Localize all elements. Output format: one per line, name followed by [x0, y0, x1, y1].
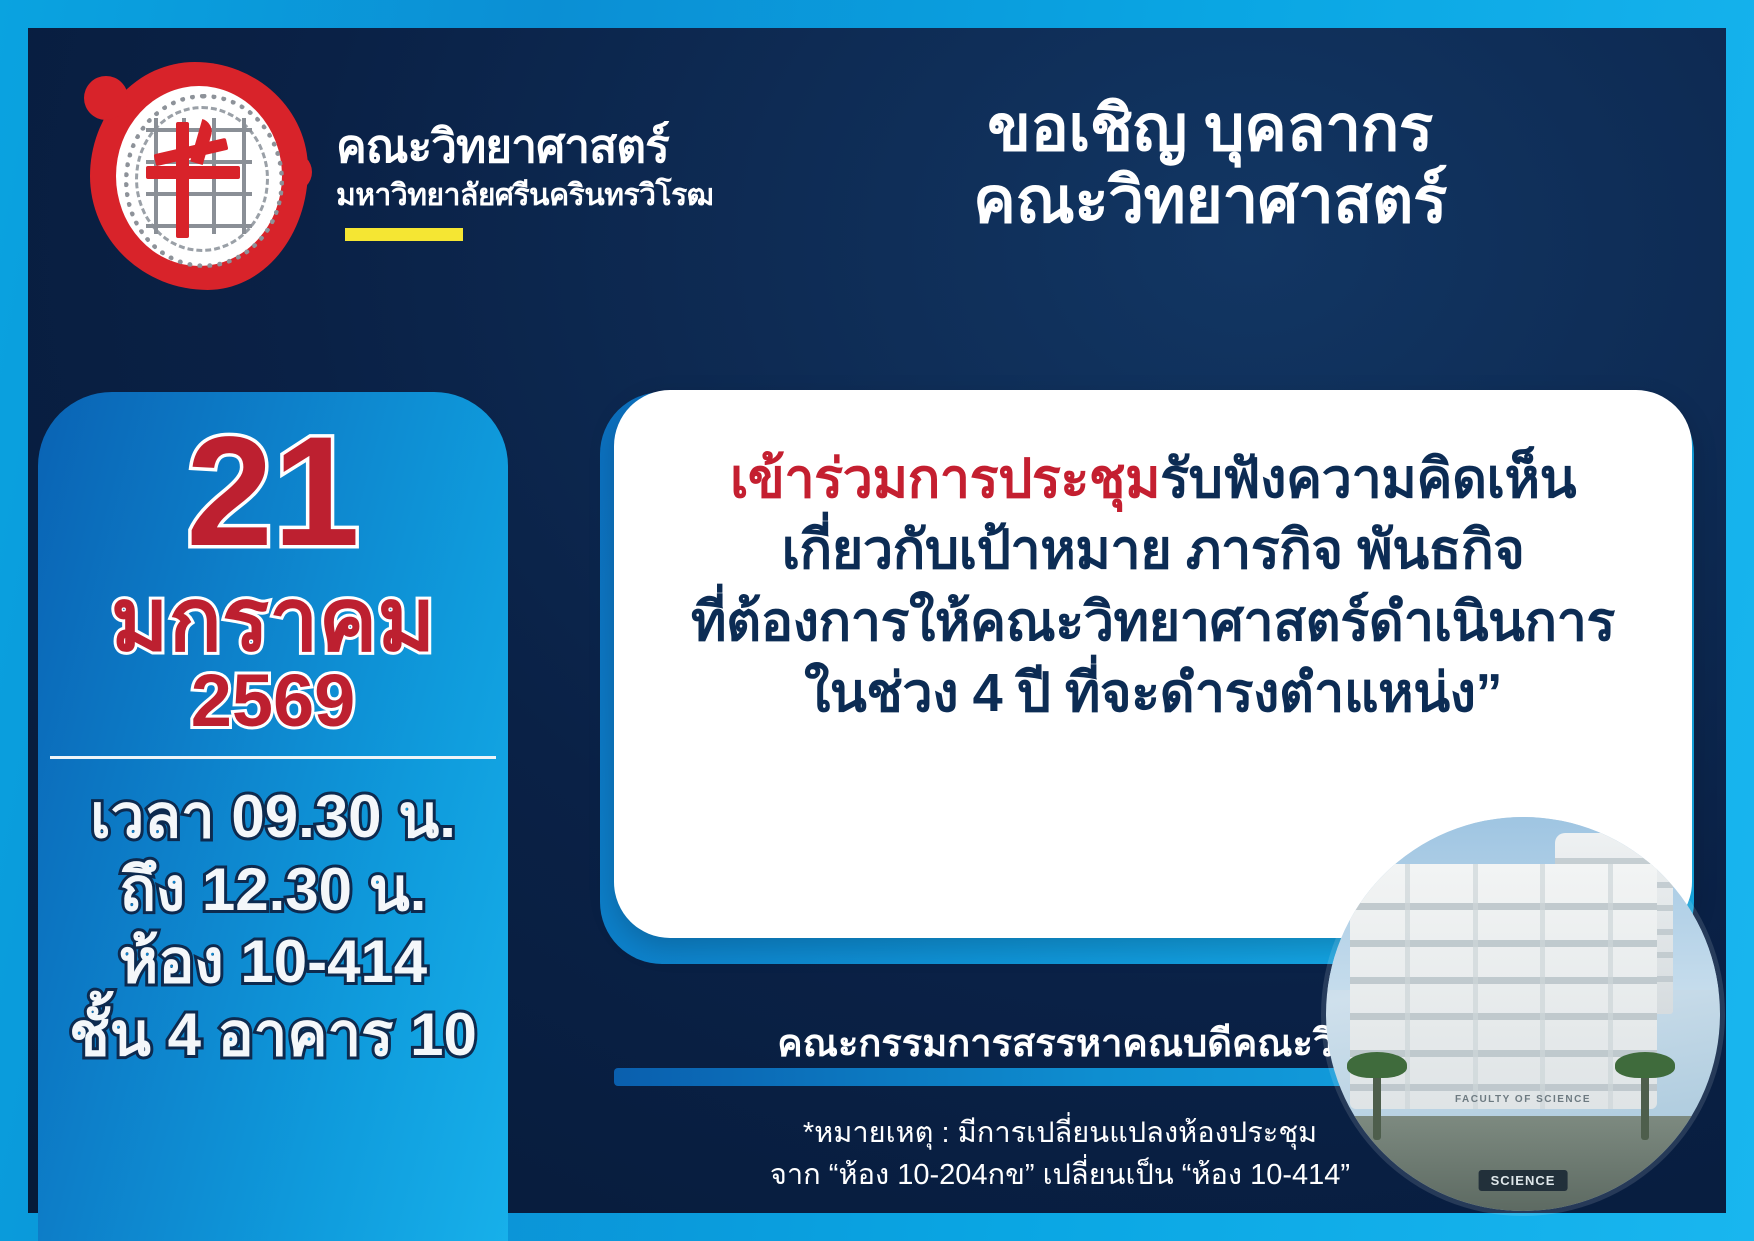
university-name: มหาวิทยาลัยศรีนครินทรวิโรฒ: [336, 172, 713, 219]
swu-seal-icon: [90, 62, 310, 292]
event-room: ห้อง 10-414: [38, 926, 508, 999]
announcement-line-1-rest: รับฟังความคิดเห็น: [1160, 449, 1576, 509]
event-time-end: ถึง 12.30 น.: [38, 854, 508, 927]
poster-root: คณะวิทยาศาสตร์ มหาวิทยาลัยศรีนครินทรวิโร…: [0, 0, 1754, 1241]
building-photo: FACULTY OF SCIENCE SCIENCE: [1326, 817, 1720, 1211]
event-floor-building: ชั้น 4 อาคาร 10: [38, 999, 508, 1072]
invite-line-2: คณะวิทยาศาสตร์: [820, 164, 1600, 236]
event-month: มกราคม: [38, 574, 508, 666]
date-panel: 21 มกราคม 2569 เวลา 09.30 น. ถึง 12.30 น…: [38, 392, 508, 1241]
announcement-body: เข้าร่วมการประชุมรับฟังความคิดเห็น เกี่ย…: [614, 444, 1692, 729]
announcement-line-4: ในช่วง 4 ปี ที่จะดำรงตำแหน่ง”: [614, 658, 1692, 729]
building-caption: FACULTY OF SCIENCE: [1455, 1094, 1591, 1105]
event-year: 2569: [38, 662, 508, 740]
event-details: เวลา 09.30 น. ถึง 12.30 น. ห้อง 10-414 ช…: [38, 781, 508, 1071]
event-day: 21: [38, 414, 508, 570]
announcement-line-3: ที่ต้องการให้คณะวิทยาศาสตร์ดำเนินการ: [614, 587, 1692, 658]
date-divider: [50, 756, 496, 759]
event-time-start: เวลา 09.30 น.: [38, 781, 508, 854]
yellow-accent-bar: [345, 228, 463, 241]
invite-line-1: ขอเชิญ บุคลากร: [820, 92, 1600, 164]
announcement-line-2: เกี่ยวกับเป้าหมาย ภารกิจ พันธกิจ: [614, 515, 1692, 586]
announcement-line-1-highlight: เข้าร่วมการประชุม: [730, 449, 1160, 509]
announcement-line-1: เข้าร่วมการประชุมรับฟังความคิดเห็น: [614, 444, 1692, 515]
invite-heading: ขอเชิญ บุคลากร คณะวิทยาศาสตร์: [820, 92, 1600, 237]
building-sign: SCIENCE: [1479, 1170, 1568, 1191]
